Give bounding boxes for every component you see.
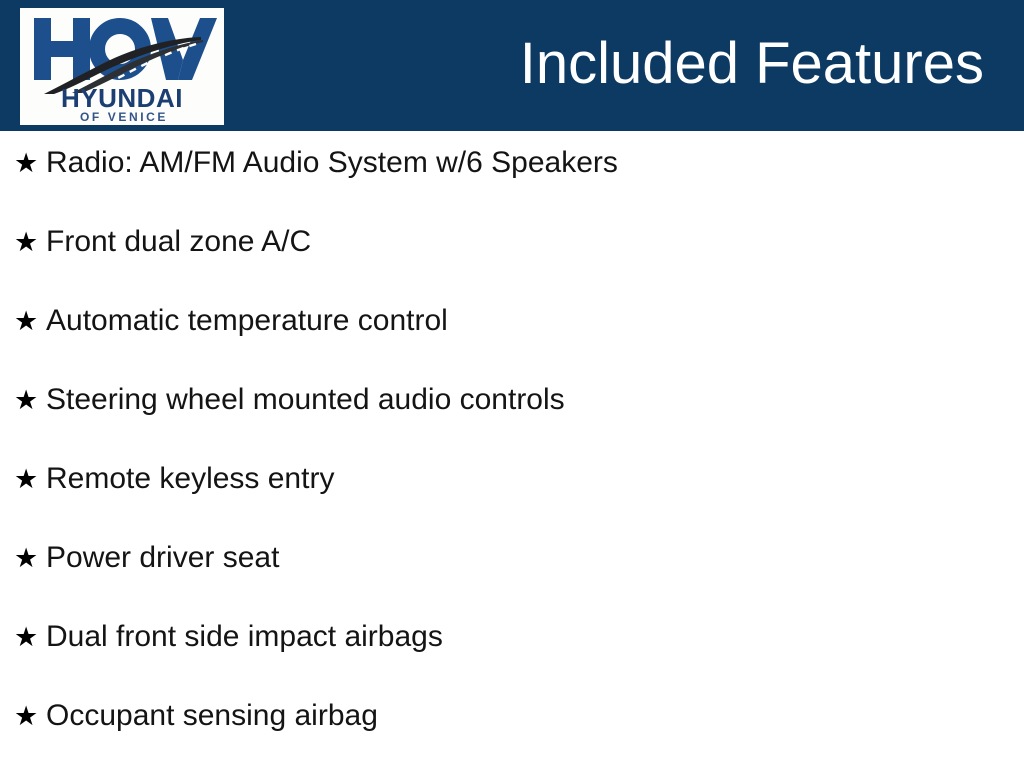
star-bullet-icon: ★ (14, 699, 46, 733)
list-item-label: Radio: AM/FM Audio System w/6 Speakers (46, 144, 618, 182)
list-item-label: Occupant sensing airbag (46, 697, 378, 735)
star-bullet-icon: ★ (14, 383, 46, 417)
feature-list: ★ Radio: AM/FM Audio System w/6 Speakers… (0, 131, 1024, 768)
slide-root: HYUNDAI OF VENICE Included Features ★ Ra… (0, 0, 1024, 768)
page-title: Included Features (520, 26, 984, 102)
star-bullet-icon: ★ (14, 541, 46, 575)
list-item: ★ Occupant sensing airbag (14, 693, 378, 739)
hov-logo-svg: HYUNDAI OF VENICE (20, 8, 224, 125)
list-item-label: Remote keyless entry (46, 460, 334, 498)
list-item: ★ Steering wheel mounted audio controls (14, 377, 565, 423)
list-item: ★ Automatic temperature control (14, 298, 448, 344)
star-bullet-icon: ★ (14, 620, 46, 654)
logo-artwork: HYUNDAI OF VENICE (20, 8, 224, 125)
header-band: HYUNDAI OF VENICE Included Features (0, 0, 1024, 131)
star-bullet-icon: ★ (14, 146, 46, 180)
dealer-logo: HYUNDAI OF VENICE (20, 8, 224, 125)
list-item: ★ Front dual zone A/C (14, 219, 311, 265)
list-item-label: Front dual zone A/C (46, 223, 311, 261)
logo-location-text: OF VENICE (80, 110, 168, 124)
star-bullet-icon: ★ (14, 304, 46, 338)
star-bullet-icon: ★ (14, 225, 46, 259)
list-item-label: Power driver seat (46, 539, 279, 577)
list-item: ★ Remote keyless entry (14, 456, 334, 502)
logo-brand-text: HYUNDAI (61, 83, 183, 113)
list-item-label: Steering wheel mounted audio controls (46, 381, 565, 419)
list-item-label: Dual front side impact airbags (46, 618, 443, 656)
list-item: ★ Power driver seat (14, 535, 279, 581)
list-item-label: Automatic temperature control (46, 302, 448, 340)
list-item: ★ Dual front side impact airbags (14, 614, 443, 660)
star-bullet-icon: ★ (14, 462, 46, 496)
list-item: ★ Radio: AM/FM Audio System w/6 Speakers (14, 140, 618, 186)
